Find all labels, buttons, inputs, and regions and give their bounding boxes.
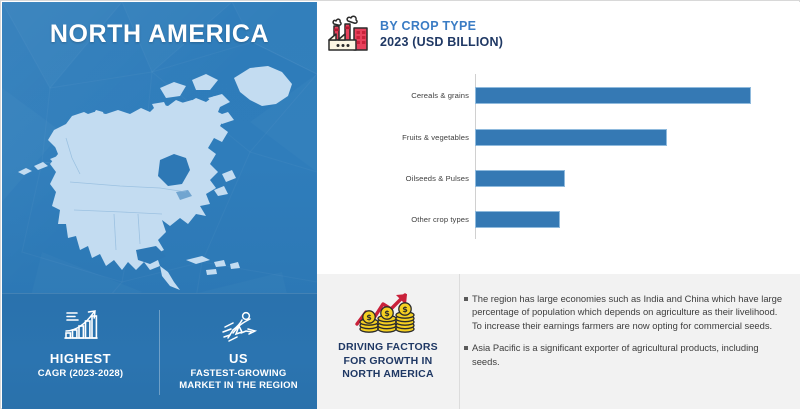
driving-factors-caption: DRIVING FACTORS FOR GROWTH IN NORTH AMER… [338, 341, 438, 382]
chart-title-block: BY CROP TYPE 2023 (USD BILLION) [380, 19, 503, 49]
chart-title: BY CROP TYPE [380, 19, 503, 33]
bar-row: Other crop types [317, 198, 800, 240]
driving-factors-bullet-list: The region has large economies such as I… [459, 274, 800, 409]
factory-icon [325, 12, 371, 56]
caption-line-2: FOR GROWTH IN [344, 355, 433, 367]
bar-row: Fruits & vegetables [317, 116, 800, 158]
stat-subtext: FASTEST-GROWING MARKET IN THE REGION [179, 368, 298, 392]
rocket-flying-icon [217, 306, 261, 346]
crop-type-chart-panel: BY CROP TYPE 2023 (USD BILLION) Cereals … [317, 2, 800, 274]
stat-highest-cagr: HIGHEST CAGR (2023-2028) [2, 294, 159, 380]
list-item: Asia Pacific is a significant exporter o… [464, 341, 786, 368]
svg-text:$: $ [366, 313, 372, 322]
rising-arrow-coin-stacks-icon: $ $ $ [349, 290, 427, 334]
bullet-text: Asia Pacific is a significant exporter o… [472, 341, 786, 368]
infographic-canvas: NORTH AMERICA [0, 0, 800, 409]
driving-factors-caption-block: $ $ $ DRIVING FACTORS FOR GROWTH IN NORT… [317, 274, 459, 409]
chart-subtitle: 2023 (USD BILLION) [380, 35, 503, 49]
bar-category-label: Fruits & vegetables [317, 116, 469, 158]
bullet-square-icon [464, 346, 468, 350]
stat-subtext: CAGR (2023-2028) [38, 368, 124, 380]
bar-category-label: Other crop types [317, 198, 469, 240]
bar-row: Oilseeds & Pulses [317, 157, 800, 199]
driving-factors-panel: $ $ $ DRIVING FACTORS FOR GROWTH IN NORT… [317, 274, 800, 409]
caption-line-1: DRIVING FACTORS [338, 341, 438, 353]
bar-cereals-grains[interactable] [475, 87, 751, 104]
list-item: The region has large economies such as I… [464, 292, 786, 332]
svg-text:$: $ [384, 309, 390, 318]
bullet-text: The region has large economies such as I… [472, 292, 786, 332]
bar-category-label: Oilseeds & Pulses [317, 157, 469, 199]
bar-row: Cereals & grains [317, 74, 800, 116]
stat-fastest-growing-market: US FASTEST-GROWING MARKET IN THE REGION [160, 294, 317, 392]
growth-bar-chart-arrow-icon [59, 306, 103, 346]
stat-subtext-line2: MARKET IN THE REGION [179, 380, 298, 391]
bullet-square-icon [464, 297, 468, 301]
stat-headline: US [229, 351, 248, 366]
bar-other-crop-types[interactable] [475, 211, 560, 228]
region-stats-band: HIGHEST CAGR (2023-2028) [2, 293, 317, 409]
north-america-map-icon [10, 54, 310, 290]
bar-oilseeds-pulses[interactable] [475, 170, 565, 187]
stat-headline: HIGHEST [50, 351, 111, 366]
page-title: NORTH AMERICA [2, 20, 317, 49]
bar-chart-plot: Cereals & grains Fruits & vegetables Oil… [317, 74, 800, 242]
bar-category-label: Cereals & grains [317, 74, 469, 116]
region-panel: NORTH AMERICA [2, 2, 317, 409]
caption-line-3: NORTH AMERICA [342, 368, 433, 380]
chart-header: BY CROP TYPE 2023 (USD BILLION) [325, 12, 503, 56]
bar-fruits-vegetables[interactable] [475, 129, 667, 146]
svg-text:$: $ [402, 305, 408, 314]
stat-subtext-line1: FASTEST-GROWING [191, 368, 287, 379]
